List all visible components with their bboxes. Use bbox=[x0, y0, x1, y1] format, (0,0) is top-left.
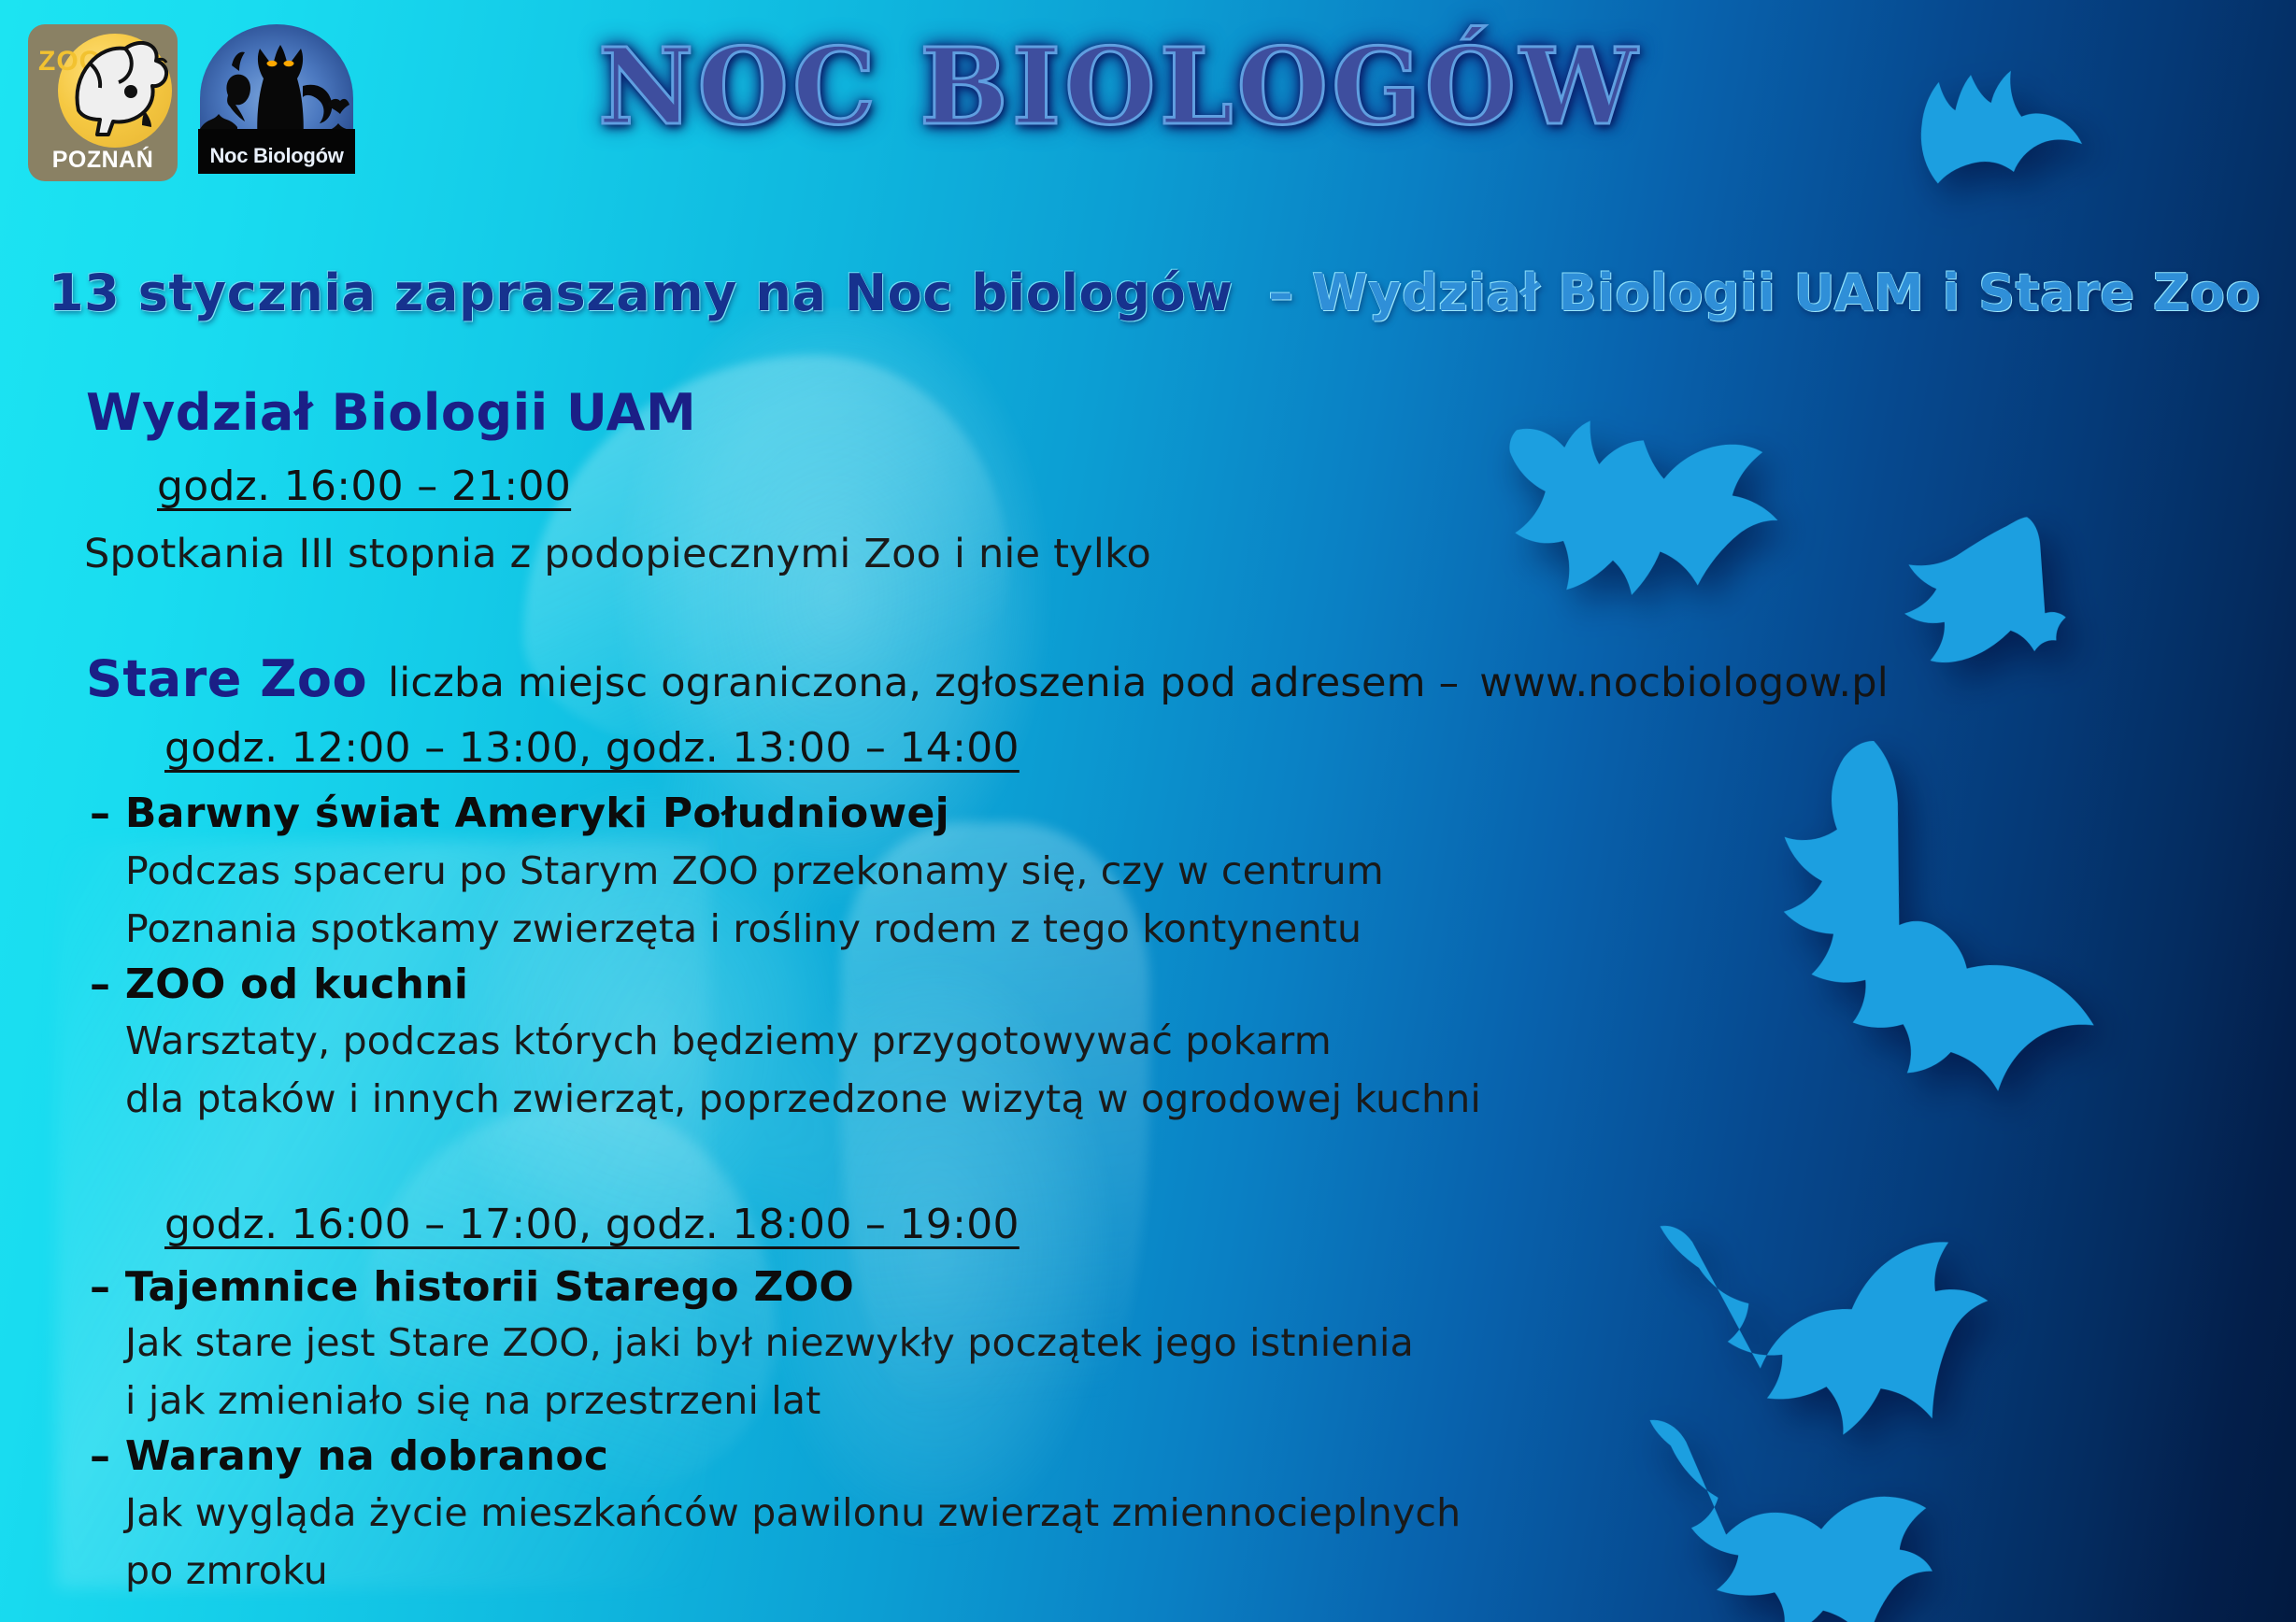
slot1-item1-desc-line1: Podczas spaceru po Starym ZOO przekonamy… bbox=[125, 848, 1384, 893]
section-note-stare-zoo: liczba miejsc ograniczona, zgłoszenia po… bbox=[388, 660, 1459, 706]
slot2-item2-desc-line2: po zmroku bbox=[125, 1548, 328, 1593]
noc-biologow-label: Noc Biologów bbox=[198, 144, 355, 168]
poster-canvas: ZOO POZNAŃ bbox=[0, 0, 2296, 1622]
section-stare-zoo-row: Stare Zoo liczba miejsc ograniczona, zgł… bbox=[86, 649, 1889, 708]
slot1-item2-desc-line1: Warsztaty, podczas których będziemy przy… bbox=[125, 1018, 1332, 1063]
slot2-item1-desc-line2: i jak zmieniało się na przestrzeni lat bbox=[125, 1378, 820, 1423]
slot1-item1-title: – Barwny świat Ameryki Południowej bbox=[90, 790, 949, 837]
logo-group: ZOO POZNAŃ bbox=[28, 24, 355, 181]
bat-icon-5 bbox=[1645, 1199, 2020, 1547]
slot2-item2-desc-line1: Jak wygląda życie mieszkańców pawilonu z… bbox=[125, 1490, 1461, 1535]
bat-icon-6 bbox=[1602, 1409, 1948, 1622]
night-dome-background bbox=[200, 24, 353, 144]
zoo-logo-poznan-text: POZNAŃ bbox=[28, 147, 178, 174]
slot2-item2-title: – Warany na dobranoc bbox=[90, 1432, 608, 1480]
slot1-item2-title: – ZOO od kuchni bbox=[90, 960, 468, 1008]
page-title: NOC BIOLOGÓW bbox=[598, 26, 1738, 149]
noc-biologow-logo[interactable]: Noc Biologów bbox=[198, 24, 355, 181]
slot2-time: godz. 16:00 – 17:00, godz. 18:00 – 19:00 bbox=[164, 1201, 1020, 1248]
bat-icon-3 bbox=[1883, 505, 2106, 715]
slot2-item1-desc-line1: Jak stare jest Stare ZOO, jaki był niezw… bbox=[125, 1320, 1414, 1365]
subtitle-part2: – Wydział Biologii UAM i Stare Zoo bbox=[1268, 263, 2260, 322]
slot1-item1-desc-line2: Poznania spotkamy zwierzęta i rośliny ro… bbox=[125, 906, 1362, 951]
section-heading-wydzial: Wydział Biologii UAM bbox=[86, 383, 696, 442]
zoo-poznan-logo[interactable]: ZOO POZNAŃ bbox=[28, 24, 178, 181]
subtitle-part1: 13 stycznia zapraszamy na Noc biologów bbox=[49, 263, 1234, 322]
slot1-item2-desc-line2: dla ptaków i innych zwierząt, poprzedzon… bbox=[125, 1076, 1481, 1121]
rhino-icon bbox=[62, 37, 172, 146]
slot1-time: godz. 12:00 – 13:00, godz. 13:00 – 14:00 bbox=[164, 724, 1020, 772]
bat-icon-2 bbox=[1492, 396, 1813, 655]
slot2-item1-title: – Tajemnice historii Starego ZOO bbox=[90, 1263, 854, 1311]
subtitle: 13 stycznia zapraszamy na Noc biologów –… bbox=[49, 263, 2273, 322]
section-note-wydzial: Spotkania III stopnia z podopiecznymi Zo… bbox=[84, 531, 1151, 577]
section-heading-stare-zoo: Stare Zoo bbox=[86, 649, 367, 708]
bat-icon-4 bbox=[1676, 731, 2118, 1138]
website-link[interactable]: www.nocbiologow.pl bbox=[1479, 660, 1889, 706]
bat-icon-1 bbox=[1890, 39, 2096, 199]
section-time-wydzial: godz. 16:00 – 21:00 bbox=[157, 462, 571, 510]
